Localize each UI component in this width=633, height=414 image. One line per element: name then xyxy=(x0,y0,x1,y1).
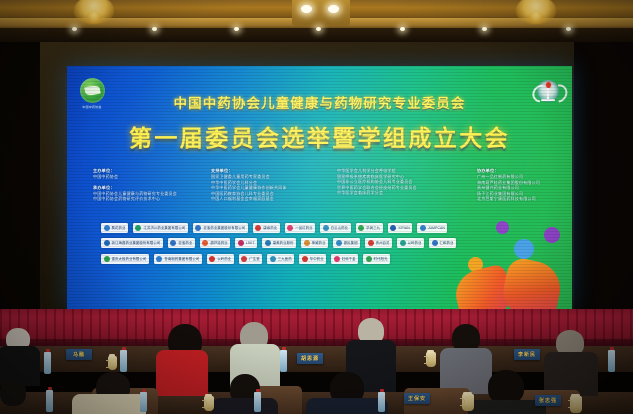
sponsor-mark-icon xyxy=(270,256,276,262)
decor-dot-purple-2 xyxy=(544,227,560,243)
sponsor-logo: 康缘药业 xyxy=(253,223,280,233)
downlight xyxy=(316,27,321,31)
organizer-columns: 主办单位：中国中药协会承办单位：中国中药协会儿童健康与药物研究专业委员会中国中药… xyxy=(93,168,553,207)
sponsor-name: JUMPCAN xyxy=(428,226,445,230)
organizer-column-2: 支持单位：国家卫健委儿童用药专家委员会中华中医药学会儿科分会中华中医药学会儿童健… xyxy=(211,168,323,207)
sponsor-logo: 健民集团 xyxy=(333,238,360,248)
downlight xyxy=(152,27,157,31)
organizer-item: 中国中药协会 xyxy=(93,174,197,180)
sponsor-name: 广生堂 xyxy=(249,257,259,261)
ceiling-projector xyxy=(292,0,350,26)
sponsor-name: 华润三九 xyxy=(366,226,380,230)
water-bottle xyxy=(44,352,51,374)
sponsor-logo: 亚宝药业集团股份有限公司 xyxy=(193,223,248,233)
sponsor-logo: 妇科千金 xyxy=(331,254,358,264)
sponsor-name: 神威药业 xyxy=(312,241,326,245)
attendee-body xyxy=(212,398,278,414)
organizer-column-1: 主办单位：中国中药协会承办单位：中国中药协会儿童健康与药物研究专业委员会中国中药… xyxy=(93,168,197,207)
sponsor-mark-icon xyxy=(304,240,310,246)
organizer-item: 北京芭斯宁康医药科技有限公司 xyxy=(477,196,572,202)
sponsor-mark-icon xyxy=(209,256,215,262)
nameplate: 张志强 xyxy=(535,395,561,406)
tea-cup xyxy=(462,394,474,411)
nameplate-text: 李新民 xyxy=(518,351,536,358)
sponsor-name: 葵花药业 xyxy=(112,226,126,230)
organizer-block: 承办单位：中国中药协会儿童健康与药物研究专业委员会中国中药协会药物研究评价技术中… xyxy=(93,185,197,202)
banner-title-line2: 第一届委员会选举暨学组成立大会 xyxy=(67,119,572,153)
nameplate: 王保安 xyxy=(404,393,430,404)
sponsor-name: 康缘药业 xyxy=(263,226,277,230)
sponsor-logo: 康美药业股份 xyxy=(262,238,296,248)
conference-hall-photo: 中国中药协会 中国中药协会儿童健康与药物研究专业委员会 第一届委员会选举暨学组成… xyxy=(0,0,633,414)
sponsor-name: 鲁南制药集团有限公司 xyxy=(164,257,199,261)
sponsor-logo: 华中药业 xyxy=(299,254,326,264)
banner-titles: 中国中药协会儿童健康与药物研究专业委员会 第一届委员会选举暨学组成立大会 xyxy=(67,92,572,153)
sponsor-mark-icon xyxy=(238,240,244,246)
sponsor-logo: JUMPCAN xyxy=(417,223,447,233)
sponsor-name: 贵州百灵 xyxy=(376,241,390,245)
sponsor-logo: YIPIAN xyxy=(388,223,413,233)
sponsor-name: 时代阳光 xyxy=(374,257,388,261)
sponsor-name: 华中药业 xyxy=(310,257,324,261)
sponsor-mark-icon xyxy=(104,225,110,231)
sponsor-name: 妇科千金 xyxy=(342,257,356,261)
sponsor-logo: 鲁南制药集团有限公司 xyxy=(154,254,202,264)
nameplate-text: 张志强 xyxy=(539,397,557,404)
organizer-column-4: 协办单位：广州一品红制药有限公司海南葫芦娃药业集团股份有限公司贵州健兴药业有限公… xyxy=(477,168,572,207)
organizer-block: 协办单位：广州一品红制药有限公司海南葫芦娃药业集团股份有限公司贵州健兴药业有限公… xyxy=(477,168,572,202)
nameplate-text: 马融 xyxy=(73,351,85,358)
sponsor-logo: 以岭药业 xyxy=(397,238,424,248)
sponsor-name: 健民集团 xyxy=(344,241,358,245)
sponsor-mark-icon xyxy=(265,240,271,246)
sponsor-mark-icon xyxy=(420,225,426,231)
sponsor-name: 江苏济川药业集团有限公司 xyxy=(143,226,185,230)
downlight xyxy=(482,27,487,31)
water-bottle xyxy=(378,392,385,412)
sponsor-logo: 葫芦娃药业 xyxy=(200,238,230,248)
sponsor-logo: 重庆太极药业有限公司 xyxy=(101,254,149,264)
tea-cup xyxy=(204,396,214,411)
sponsor-mark-icon xyxy=(336,240,342,246)
organizer-block: 主办单位：中国中药协会 xyxy=(93,168,197,180)
nameplate: 马融 xyxy=(66,349,92,360)
sponsor-name: 以岭药业 xyxy=(217,257,231,261)
sponsor-mark-icon xyxy=(400,240,406,246)
sponsor-name: 康美药业股份 xyxy=(273,241,294,245)
sponsor-logo: 三九医药 xyxy=(267,254,294,264)
sponsor-logo: 江苏济川药业集团有限公司 xyxy=(133,223,188,233)
organizer-block: 支持单位：国家卫健委儿童用药专家委员会中华中医药学会儿科分会中华中医药学会儿童健… xyxy=(211,168,323,202)
sponsor-name: 重庆太极药业有限公司 xyxy=(112,257,147,261)
sponsor-mark-icon xyxy=(156,256,162,262)
sponsor-logo: 葵花药业 xyxy=(101,223,128,233)
sponsor-mark-icon xyxy=(323,225,329,231)
nameplate-text: 王保安 xyxy=(408,395,426,402)
projector-lamp-left xyxy=(301,5,312,13)
tea-cup xyxy=(426,352,436,367)
sponsor-logo: 以岭药业 xyxy=(207,254,234,264)
sponsor-mark-icon xyxy=(334,256,340,262)
sponsor-mark-icon xyxy=(287,225,293,231)
attendee-body xyxy=(156,350,208,396)
attendee-head xyxy=(0,378,26,406)
sponsor-logo: 广生堂 xyxy=(239,254,262,264)
organizer-block: 中华医学会儿科学分会呼吸学组国家呼吸系统疾病临床医学研究中心中国非公立医疗机构协… xyxy=(337,168,463,196)
water-bottle xyxy=(140,392,147,412)
sponsor-logo: 白云山药业 xyxy=(320,223,350,233)
sponsor-name: 亚宝药业集团股份有限公司 xyxy=(203,226,245,230)
wall-left-dark xyxy=(0,40,40,312)
sponsor-mark-icon xyxy=(241,256,247,262)
sponsor-logo: 神威药业 xyxy=(301,238,328,248)
organizer-column-3: 中华医学会儿科学分会呼吸学组国家呼吸系统疾病临床医学研究中心中国非公立医疗机构协… xyxy=(337,168,463,207)
tea-cup xyxy=(108,356,117,370)
sponsor-mark-icon xyxy=(104,256,110,262)
sponsor-name: 亚宝药业 xyxy=(178,241,192,245)
nameplate: 李新民 xyxy=(514,349,540,360)
sponsor-mark-icon xyxy=(202,240,208,246)
sponsor-name: 以岭药业 xyxy=(408,241,422,245)
sponsor-mark-icon xyxy=(432,240,438,246)
water-bottle xyxy=(46,390,53,412)
sponsor-name: 三九医药 xyxy=(278,257,292,261)
attendee-body xyxy=(306,398,388,414)
wall-right-dark xyxy=(574,40,633,312)
sponsor-logo: 一品红药业 xyxy=(285,223,315,233)
sponsor-mark-icon xyxy=(195,225,201,231)
abstract-children-figures xyxy=(452,213,572,309)
chandelier-left xyxy=(74,0,114,24)
downlight xyxy=(234,27,239,31)
water-bottle xyxy=(120,350,127,372)
water-bottle xyxy=(608,350,615,372)
organizer-item: 中国中药协会药物研究评价技术中心 xyxy=(93,196,197,202)
sponsor-name: 一品红药业 xyxy=(295,226,312,230)
water-bottle xyxy=(254,392,261,412)
decor-dot-blue xyxy=(514,239,534,259)
sponsor-mark-icon xyxy=(358,225,364,231)
sponsor-name: 白云山药业 xyxy=(331,226,348,230)
nameplate: 胡思源 xyxy=(297,353,323,364)
chandelier-right xyxy=(516,0,556,24)
sponsor-mark-icon xyxy=(366,256,372,262)
organizer-item: 中华医学会临床药学分会 xyxy=(337,190,463,196)
sponsor-logo: LSKT xyxy=(235,238,257,248)
downlight xyxy=(72,27,77,31)
sponsor-name: LSKT xyxy=(246,241,255,245)
sponsor-mark-icon xyxy=(104,240,110,246)
sponsor-mark-icon xyxy=(135,225,141,231)
sponsor-name: 浙江海昌药业集团股份有限公司 xyxy=(112,241,161,245)
sponsor-logo: 华润三九 xyxy=(356,223,383,233)
sponsor-name: YIPIAN xyxy=(398,226,410,230)
sponsor-mark-icon xyxy=(302,256,308,262)
sponsor-logo: 时代阳光 xyxy=(363,254,390,264)
decor-figure-2 xyxy=(499,256,565,309)
sponsor-mark-icon xyxy=(368,240,374,246)
downlight xyxy=(400,27,405,31)
nameplate-text: 胡思源 xyxy=(301,355,319,362)
decor-dot-purple xyxy=(496,221,509,234)
sponsor-logo: 亚宝药业 xyxy=(168,238,195,248)
sponsor-name: 葫芦娃药业 xyxy=(210,241,227,245)
tea-cup xyxy=(570,396,582,413)
water-bottle xyxy=(280,350,287,372)
sponsor-mark-icon xyxy=(390,225,396,231)
organizer-item: 中国人口福利基金会幸福家庭基金 xyxy=(211,196,323,202)
led-stage-screen: 中国中药协会 中国中药协会儿童健康与药物研究专业委员会 第一届委员会选举暨学组成… xyxy=(67,66,572,309)
sponsor-logo: 贵州百灵 xyxy=(365,238,392,248)
downlight xyxy=(566,27,571,31)
attendee-body xyxy=(72,394,146,414)
audience-area: 马融胡思源王保安张志强李新民 xyxy=(0,318,633,414)
sponsor-logo: 浙江海昌药业集团股份有限公司 xyxy=(101,238,163,248)
sponsor-mark-icon xyxy=(170,240,176,246)
banner-title-line1: 中国中药协会儿童健康与药物研究专业委员会 xyxy=(67,92,572,112)
sponsor-mark-icon xyxy=(255,225,261,231)
projector-lamp-right xyxy=(328,5,339,13)
attendee-head xyxy=(488,370,524,404)
